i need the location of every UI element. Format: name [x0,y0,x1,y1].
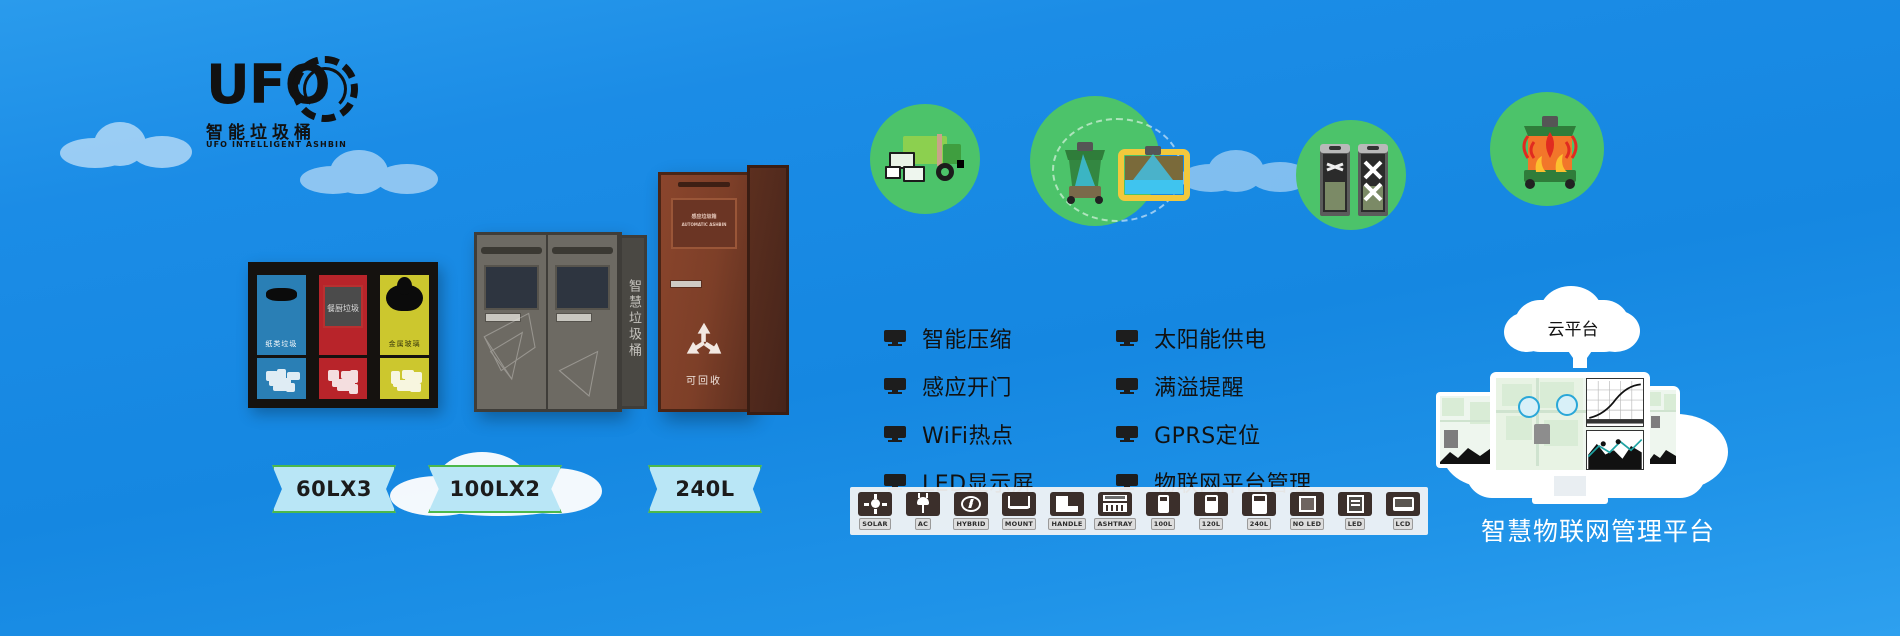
spec-chip-hybrid: HYBRID [950,492,992,530]
mesh-graphic [480,305,544,400]
spec-tag: HANDLE [1048,518,1085,530]
feature-list: 智能压缩 感应开门 WiFi热点 LED显示屏 太阳能供电 满溢提醒 GPRS定… [884,322,1312,498]
compaction-bin-icon [1318,140,1392,224]
compartment-label: 纸类垃圾 [257,339,306,349]
monitor-icon [1116,330,1138,346]
spec-tag: LED [1345,518,1366,530]
spec-chip-100l: 100L [1142,492,1184,530]
display-screen [484,265,539,311]
power-plug-icon [906,492,940,516]
monitor-icon [884,426,906,442]
capacity-ribbon-100l: 100LX2 [428,465,562,513]
cloud-decoration-left [60,120,200,170]
line-chart-thumbnail [1586,378,1644,427]
spec-chip-lcd: LCD [1382,492,1424,530]
display-screen [555,265,610,311]
area-chart-thumbnail [1586,430,1644,470]
handle-icon [1050,492,1084,516]
capacity-label: 240L [675,477,734,501]
display-text: 感应垃圾箱AUTOMATIC ASHBIN [673,214,734,229]
bin-unit-left [477,235,548,409]
smart-collection-truck-icon [885,130,971,192]
bin-240l-icon [1242,492,1276,516]
down-arrow-icon [1566,348,1594,368]
feature-item: 智能压缩 [884,322,1034,354]
display-screen: 餐厨垃圾 [323,285,364,328]
fire-alarm-icon [1510,110,1590,190]
monitor-base [1532,496,1608,504]
monitor-screen [1496,378,1644,470]
bin-120l-icon [1194,492,1228,516]
feature-label: GPRS定位 [1154,418,1261,450]
feature-item: WiFi热点 [884,418,1034,450]
product-single-recycle-bin: 感应垃圾箱AUTOMATIC ASHBIN 可回收 [658,172,750,412]
product-triple-sorting-bin: 纸类垃圾 餐厨垃圾 [248,262,438,408]
logo-english-name: UFO INTELLIGENT ASHBIN [206,140,347,149]
mesh-graphic [551,305,615,400]
capacity-label: 60LX3 [296,477,372,501]
monitor-icon [884,378,906,394]
tablet-screen [1440,396,1494,464]
compartment-label: 金属玻璃 [380,339,429,349]
recycle-symbol-icon [682,320,726,360]
brand-logo: UFO 智能垃圾桶 UFO INTELLIGENT ASHBIN [196,52,396,152]
led-icon [1338,492,1372,516]
bearing-inner-icon [303,67,347,111]
cloud-decoration-upper [300,150,450,196]
monitor-icon [1116,378,1138,394]
sun-icon [858,492,892,516]
no-led-icon [1290,492,1324,516]
feature-label: 太阳能供电 [1154,322,1267,354]
display-screen: 感应垃圾箱AUTOMATIC ASHBIN [671,198,736,249]
bottle-slot-icon [386,285,423,311]
spec-chip-mount: MOUNT [998,492,1040,530]
feature-label: WiFi热点 [922,418,1014,450]
spec-chip-solar: SOLAR [854,492,896,530]
feature-item: 太阳能供电 [1116,322,1312,354]
capacity-ribbon-240l: 240L [648,465,762,513]
platform-title: 智慧物联网管理平台 [1448,512,1748,548]
ultrasonic-fill-sensor-icon [1055,140,1195,212]
lcd-icon [1386,492,1420,516]
waste-pictogram [262,367,301,393]
panel-label: 可回收 [661,372,747,387]
spec-chip-no-led: NO LED [1286,492,1328,530]
compartment-label: 餐厨垃圾 [325,303,362,314]
bin-100l-icon [1146,492,1180,516]
bin-compartment-paper: 纸类垃圾 [252,266,314,404]
feature-item: 满溢提醒 [1116,370,1312,402]
spec-tag: 240L [1247,518,1272,530]
tablet-device [1436,392,1498,468]
spec-chip-led: LED [1334,492,1376,530]
product-dual-smart-bin: 智慧垃圾桶 [474,232,622,412]
oval-slot-icon [266,288,297,301]
bin-side-panel [747,165,789,415]
iot-platform-illustration: 云平台 [1448,296,1748,546]
feature-label: 满溢提醒 [1154,370,1244,402]
spec-tag: AC [915,518,931,530]
spec-tag: NO LED [1290,518,1324,530]
ashtray-icon [1098,492,1132,516]
spec-chip-ac: AC [902,492,944,530]
feature-label: 感应开门 [922,370,1012,402]
vent-strip [678,182,730,187]
handle-icon [670,280,702,288]
wall-mount-icon [1002,492,1036,516]
feature-column-left: 智能压缩 感应开门 WiFi热点 LED显示屏 [884,322,1034,498]
feature-item: GPRS定位 [1116,418,1312,450]
spec-chip-handle: HANDLE [1046,492,1088,530]
spec-tag: 100L [1151,518,1176,530]
spec-chip-240l: 240L [1238,492,1280,530]
capacity-label: 100LX2 [449,477,540,501]
waste-pictogram [385,367,424,393]
bin-unit-right [548,235,619,409]
monitor-icon [884,330,906,346]
spec-tag: 120L [1199,518,1224,530]
bin-compartment-kitchen: 餐厨垃圾 [314,266,376,404]
feature-item: 感应开门 [884,370,1034,402]
spec-tag: LCD [1393,518,1414,530]
lid-strip [481,247,542,254]
spec-tag: MOUNT [1002,518,1036,530]
feature-column-right: 太阳能供电 满溢提醒 GPRS定位 物联网平台管理 [1116,322,1312,498]
spec-tag: SOLAR [859,518,890,530]
feature-label: 智能压缩 [922,322,1012,354]
desktop-monitor [1490,372,1650,476]
lid-strip [552,247,613,254]
phone-screen [1648,390,1676,464]
promo-banner: UFO 智能垃圾桶 UFO INTELLIGENT ASHBIN 纸类垃圾 [0,0,1900,636]
spec-chip-120l: 120L [1190,492,1232,530]
spec-option-strip: SOLAR AC HYBRID MOUNT HANDLE [850,487,1428,535]
spec-tag: ASHTRAY [1094,518,1135,530]
cloud-platform-label: 云平台 [1518,304,1628,350]
capacity-ribbon-60l: 60LX3 [272,465,396,513]
monitor-icon [1116,426,1138,442]
bin-side-text: 智慧垃圾桶 [623,279,643,359]
monitor-stand [1554,476,1586,498]
spec-chip-ashtray: ASHTRAY [1094,492,1136,530]
spec-tag: HYBRID [953,518,988,530]
hybrid-power-icon [954,492,988,516]
waste-pictogram [324,367,363,393]
bin-compartment-glass-metal: 金属玻璃 [375,266,434,404]
